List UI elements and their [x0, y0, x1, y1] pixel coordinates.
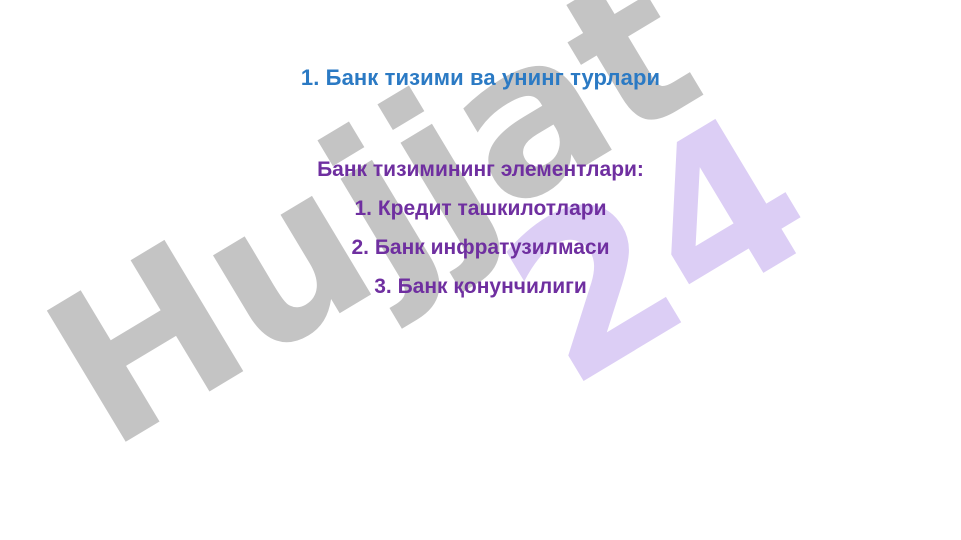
slide-content: 1. Банк тизими ва унинг турлари Банк тиз…	[0, 0, 961, 540]
body-line-item-1: 1. Кредит ташкилотлари	[0, 198, 961, 219]
slide-title: 1. Банк тизими ва унинг турлари	[0, 64, 961, 92]
slide-body-list: Банк тизимининг элементлари: 1. Кредит т…	[0, 159, 961, 297]
body-line-heading: Банк тизимининг элементлари:	[0, 159, 961, 180]
body-line-item-3: 3. Банк қонунчилиги	[0, 276, 961, 297]
presentation-slide: 24 Hujjat 1. Банк тизими ва унинг турлар…	[0, 0, 961, 540]
body-line-item-2: 2. Банк инфратузилмаси	[0, 237, 961, 258]
